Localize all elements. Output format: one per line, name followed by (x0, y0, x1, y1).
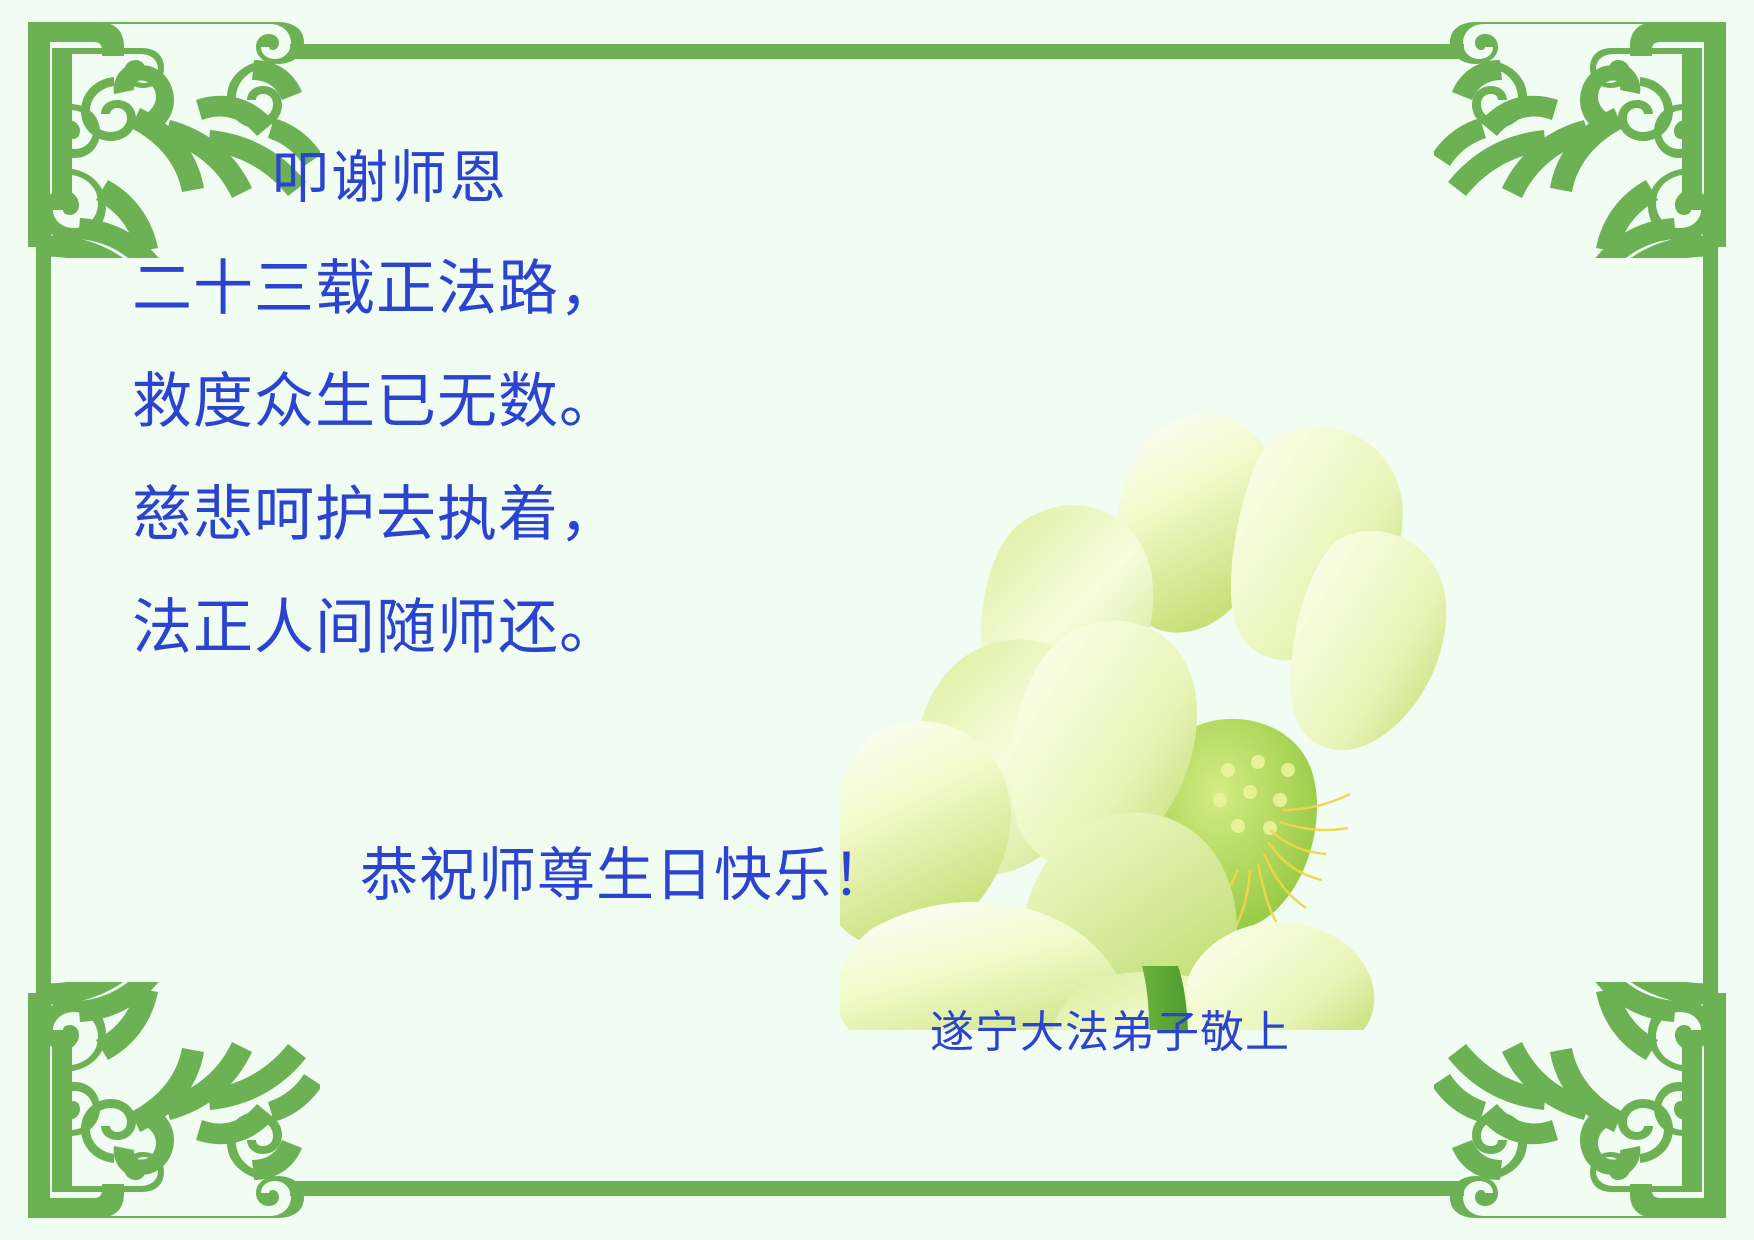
blessing-text: 恭祝师尊生日快乐！ (360, 828, 891, 912)
corner-ornament-icon (1434, 982, 1744, 1232)
poem-line: 二十三载正法路， (132, 259, 912, 319)
corner-ornament-icon (1434, 8, 1744, 258)
lotus-flower-icon (840, 330, 1480, 1030)
poem-block: 叩谢师恩 二十三载正法路， 救度众生已无数。 慈悲呵护去执着， 法正人间随师还。 (132, 150, 912, 658)
signature-text: 遂宁大法弟子敬上 (930, 996, 1290, 1060)
border-line-top (290, 44, 1464, 59)
greeting-card: 叩谢师恩 二十三载正法路， 救度众生已无数。 慈悲呵护去执着， 法正人间随师还。… (0, 0, 1754, 1240)
poem-line: 救度众生已无数。 (132, 372, 912, 432)
border-line-right (1703, 210, 1718, 1030)
poem-line: 法正人间随师还。 (132, 598, 912, 658)
poem-line: 慈悲呵护去执着， (132, 485, 912, 545)
border-line-left (36, 210, 51, 1030)
poem-title: 叩谢师恩 (272, 150, 912, 207)
corner-ornament-icon (10, 982, 320, 1232)
border-line-bottom (290, 1181, 1464, 1196)
